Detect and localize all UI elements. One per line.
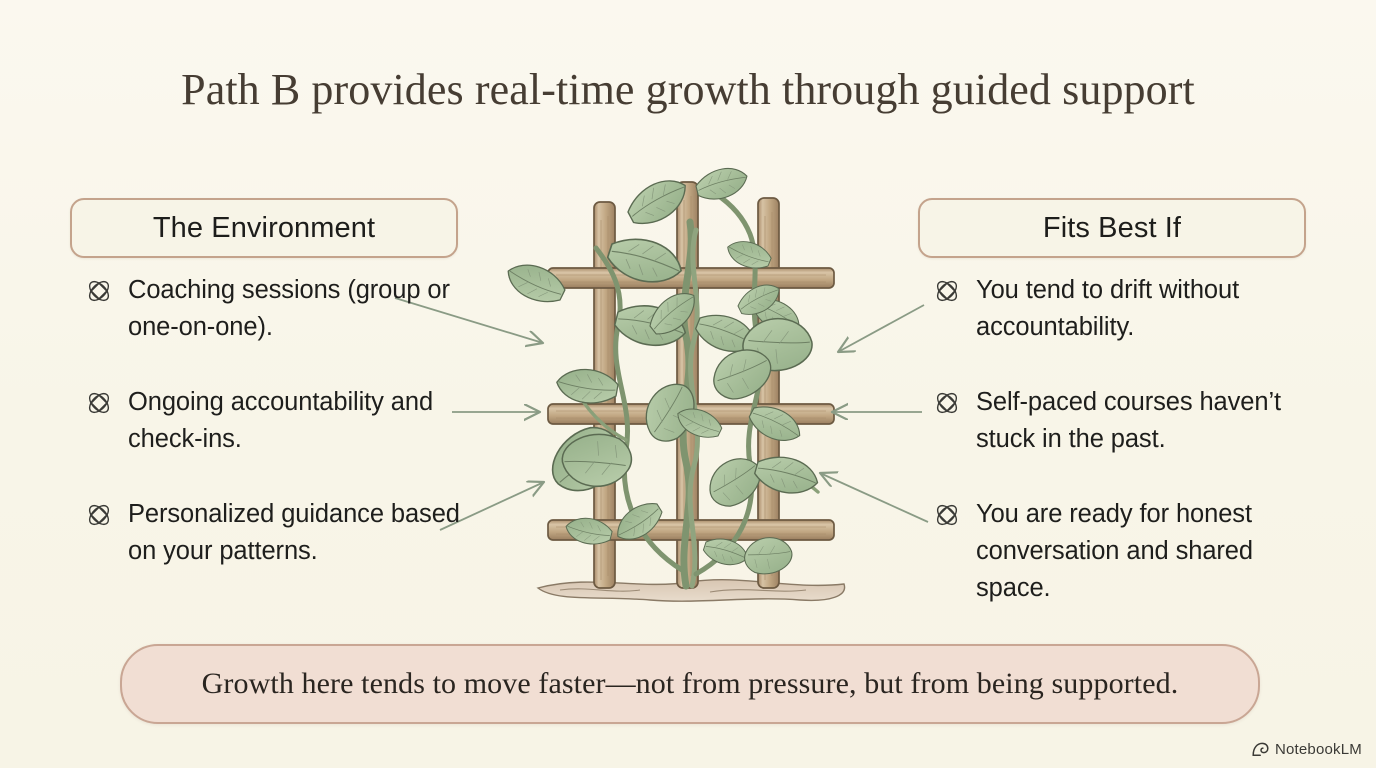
- list-item-text: Self-paced courses haven’t stuck in the …: [976, 384, 1332, 458]
- list-item-text: You are ready for honest conversation an…: [976, 496, 1332, 607]
- knot-icon: [932, 276, 962, 306]
- list-item: Personalized guidance based on your patt…: [84, 496, 484, 570]
- knot-icon: [84, 388, 114, 418]
- knot-icon: [84, 276, 114, 306]
- list-item-text: Ongoing accountability and check-ins.: [128, 384, 484, 458]
- right-column-heading: Fits Best If: [918, 198, 1306, 258]
- list-item: Coaching sessions (group or one-on-one).: [84, 272, 484, 346]
- knot-icon: [932, 388, 962, 418]
- notebooklm-logo-icon: [1252, 742, 1269, 757]
- slide-canvas: Path B provides real-time growth through…: [0, 0, 1376, 768]
- summary-banner-text: Growth here tends to move faster—not fro…: [202, 667, 1179, 701]
- notebooklm-label: NotebookLM: [1275, 741, 1362, 758]
- list-item-text: You tend to drift without accountability…: [976, 272, 1332, 346]
- list-item: You are ready for honest conversation an…: [932, 496, 1332, 607]
- knot-icon: [932, 500, 962, 530]
- right-column-heading-label: Fits Best If: [1043, 212, 1181, 245]
- list-item: Self-paced courses haven’t stuck in the …: [932, 384, 1332, 458]
- trellis-illustration: [500, 140, 880, 620]
- notebooklm-watermark: NotebookLM: [1252, 741, 1362, 758]
- summary-banner: Growth here tends to move faster—not fro…: [120, 644, 1260, 724]
- list-item: You tend to drift without accountability…: [932, 272, 1332, 346]
- knot-icon: [84, 500, 114, 530]
- list-item-text: Personalized guidance based on your patt…: [128, 496, 484, 570]
- left-column-list: Coaching sessions (group or one-on-one).…: [84, 272, 484, 608]
- page-title: Path B provides real-time growth through…: [0, 62, 1376, 118]
- list-item-text: Coaching sessions (group or one-on-one).: [128, 272, 484, 346]
- left-column-heading-label: The Environment: [153, 212, 375, 245]
- list-item: Ongoing accountability and check-ins.: [84, 384, 484, 458]
- right-column-list: You tend to drift without accountability…: [932, 272, 1332, 645]
- left-column-heading: The Environment: [70, 198, 458, 258]
